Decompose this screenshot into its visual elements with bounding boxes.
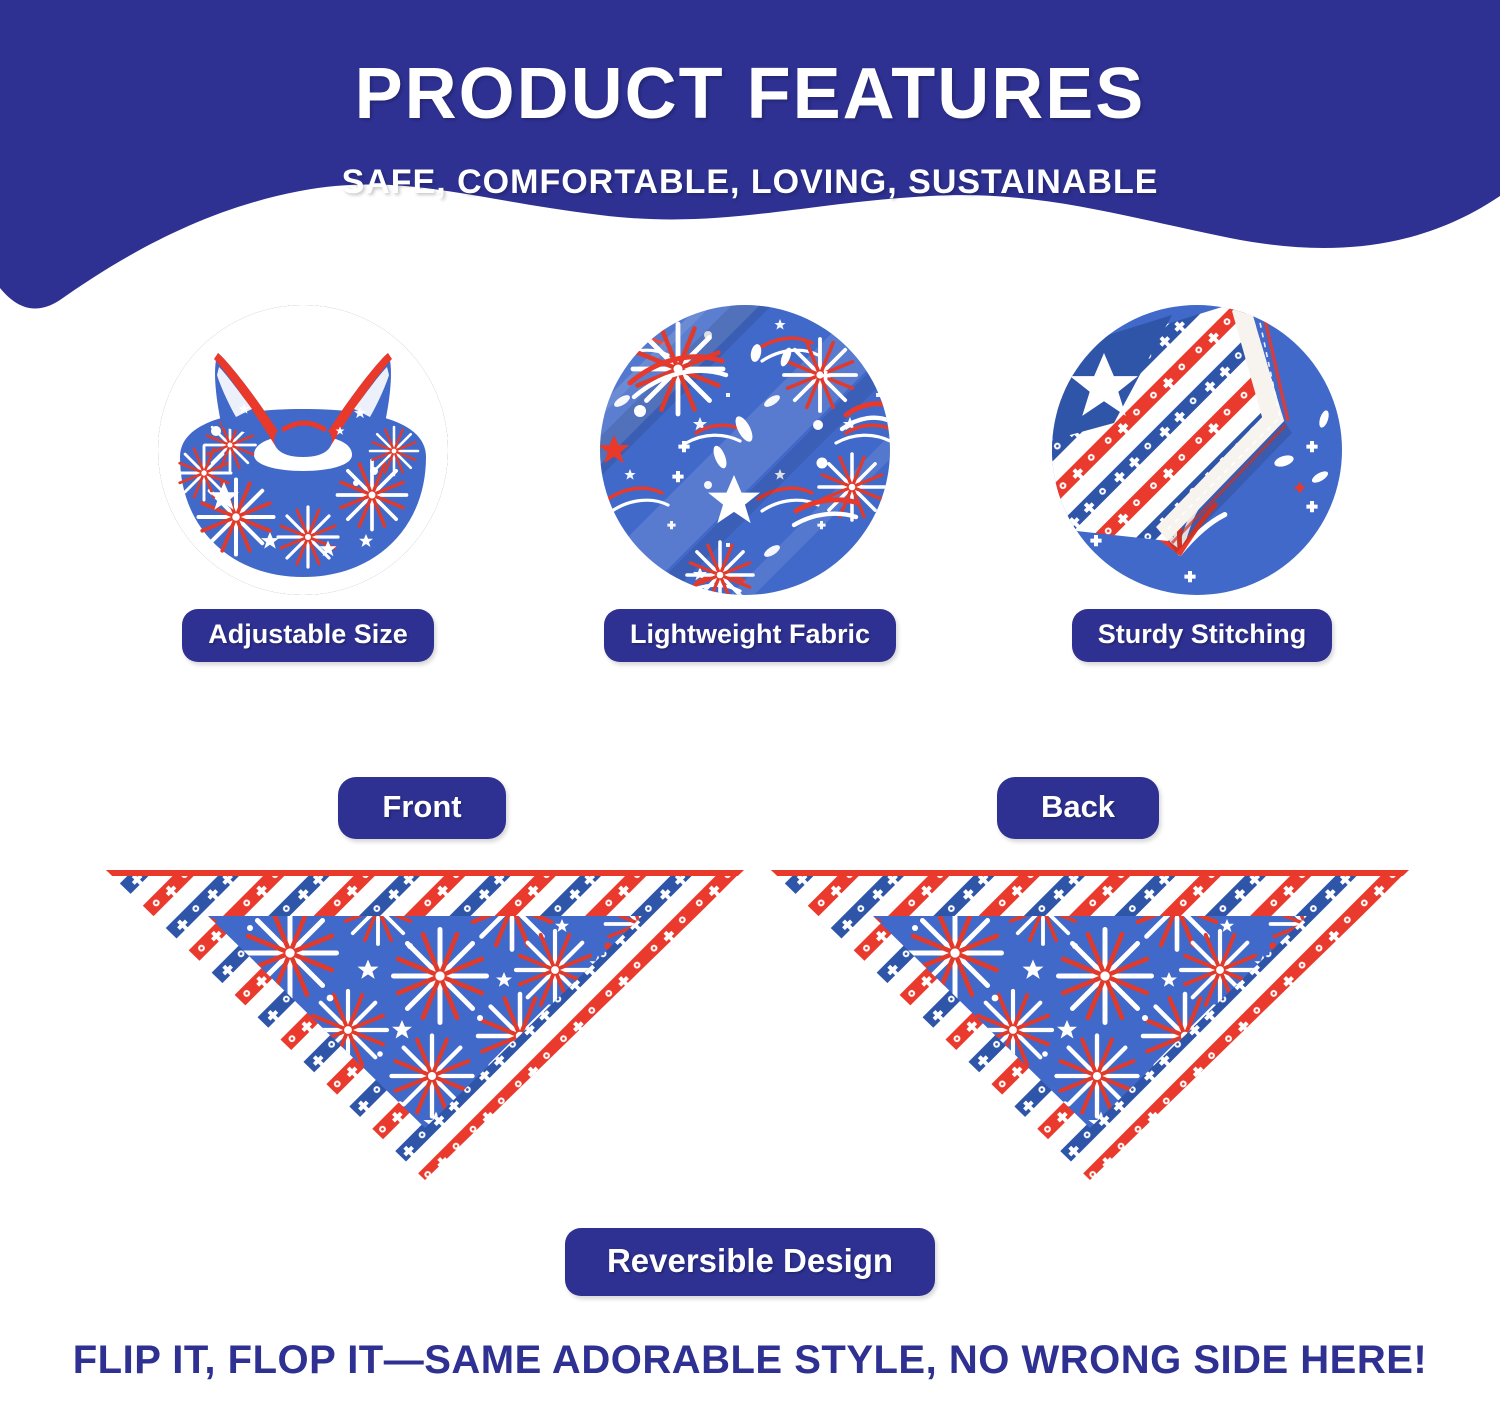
side-label-back-wrap: Back	[848, 777, 1308, 839]
feature-adjustable-size: Adjustable Size	[158, 305, 458, 662]
feature-label-sturdy-stitching[interactable]: Sturdy Stitching	[1072, 609, 1333, 662]
bottom-caption: FLIP IT, FLOP IT—SAME ADORABLE STYLE, NO…	[0, 1338, 1500, 1383]
feature-label-lightweight-fabric[interactable]: Lightweight Fabric	[604, 609, 896, 662]
feature-image-sturdy-stitching	[1052, 305, 1342, 595]
page-header: PRODUCT FEATURES SAFE, COMFORTABLE, LOVI…	[0, 0, 1500, 330]
page-title: PRODUCT FEATURES	[0, 58, 1500, 130]
side-label-front[interactable]: Front	[338, 777, 505, 839]
reversible-label-wrap: Reversible Design	[0, 1228, 1500, 1296]
feature-image-adjustable-size	[158, 305, 448, 595]
feature-lightweight-fabric: Lightweight Fabric	[600, 305, 900, 662]
reversible-design-label[interactable]: Reversible Design	[565, 1228, 935, 1296]
bandana-back-image	[765, 858, 1415, 1188]
feature-label-adjustable-size[interactable]: Adjustable Size	[182, 609, 434, 662]
bandana-back	[765, 858, 1415, 1193]
page-subtitle: SAFE, COMFORTABLE, LOVING, SUSTAINABLE	[0, 163, 1500, 202]
bandana-front-image	[100, 858, 750, 1188]
bandana-front	[100, 858, 750, 1193]
feature-sturdy-stitching: Sturdy Stitching	[1052, 305, 1352, 662]
side-label-front-wrap: Front	[192, 777, 652, 839]
side-label-back[interactable]: Back	[997, 777, 1159, 839]
feature-image-lightweight-fabric	[600, 305, 890, 595]
